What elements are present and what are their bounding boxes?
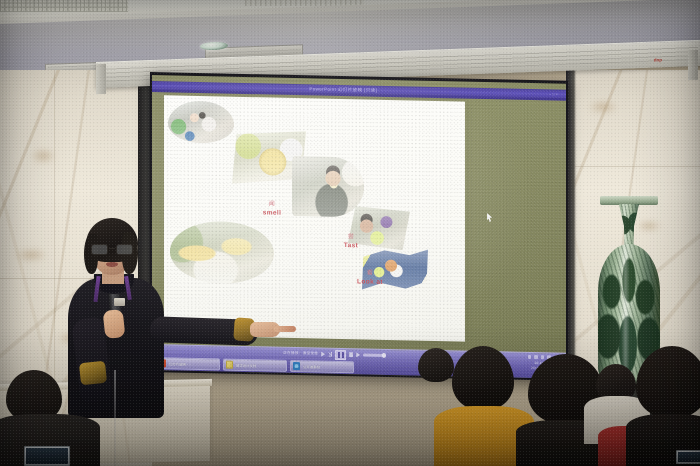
screen-bracket-right <box>688 50 698 80</box>
eyeglasses-icon <box>91 244 133 255</box>
ceiling-perforated-panel-left <box>0 0 128 12</box>
vase-rim <box>600 196 658 205</box>
audience-member-head <box>418 348 454 382</box>
presentation-photo-scene: SCREEN dnp PowerPoint 幻灯片放映 [只读] – □ × <box>0 0 700 466</box>
name-badge <box>114 298 125 306</box>
laptop <box>24 446 70 466</box>
screen-bracket-left <box>96 64 106 94</box>
presenter-figure <box>64 214 254 414</box>
valance-brand-right: dnp <box>654 57 662 62</box>
presenter-sleeve-cuff-left <box>79 361 107 386</box>
presenter-index-finger <box>274 326 296 332</box>
presenter-mic-hand <box>103 309 126 339</box>
laptop <box>676 450 700 464</box>
